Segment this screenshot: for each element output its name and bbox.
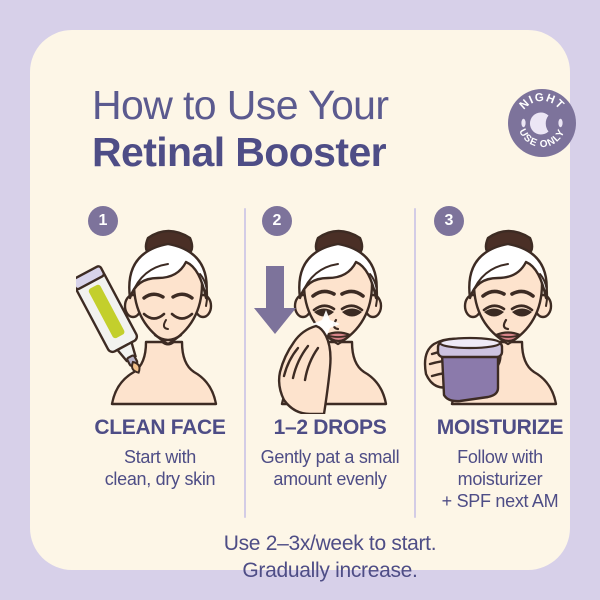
step-3-body-line-1: Follow with	[442, 446, 559, 468]
page-title: How to Use Your Retinal Booster	[92, 82, 492, 176]
step-2-body-line-1: Gently pat a small	[261, 446, 400, 468]
footer-line-2: Gradually increase.	[60, 557, 600, 584]
step-1-heading: CLEAN FACE	[94, 416, 225, 440]
arrow-down-icon	[254, 266, 296, 334]
info-card: How to Use Your Retinal Booster NIGHT	[30, 30, 570, 570]
step-number-badge-1: 1	[88, 206, 118, 236]
step-3-body-line-2: moisturizer	[442, 468, 559, 490]
step-2-body: Gently pat a small amount evenly	[261, 446, 400, 490]
infographic-canvas: How to Use Your Retinal Booster NIGHT	[0, 0, 600, 600]
step-1: 1	[76, 202, 244, 522]
step-3: 3	[416, 202, 584, 522]
step-2-body-line-2: amount evenly	[261, 468, 400, 490]
title-line-2: Retinal Booster	[92, 128, 492, 176]
moisturizer-jar-icon	[438, 338, 502, 401]
step-1-body-line-1: Start with	[105, 446, 216, 468]
step-1-body-line-2: clean, dry skin	[105, 468, 216, 490]
step-3-body-line-3: + SPF next AM	[442, 490, 559, 512]
step-number-badge-3: 3	[434, 206, 464, 236]
step-2: 2	[246, 202, 414, 522]
step-2-heading: 1–2 DROPS	[274, 416, 387, 440]
step-3-heading: MOISTURIZE	[437, 416, 564, 440]
step-3-body: Follow with moisturizer + SPF next AM	[442, 446, 559, 512]
step-1-body: Start with clean, dry skin	[105, 446, 216, 490]
steps-row: 1	[76, 202, 584, 522]
title-line-1: How to Use Your	[92, 82, 492, 128]
footer-line-1: Use 2–3x/week to start.	[60, 530, 600, 557]
footer-note: Use 2–3x/week to start. Gradually increa…	[60, 530, 600, 584]
night-use-only-badge: NIGHT USE ONLY	[507, 88, 577, 158]
step-number-badge-2: 2	[262, 206, 292, 236]
